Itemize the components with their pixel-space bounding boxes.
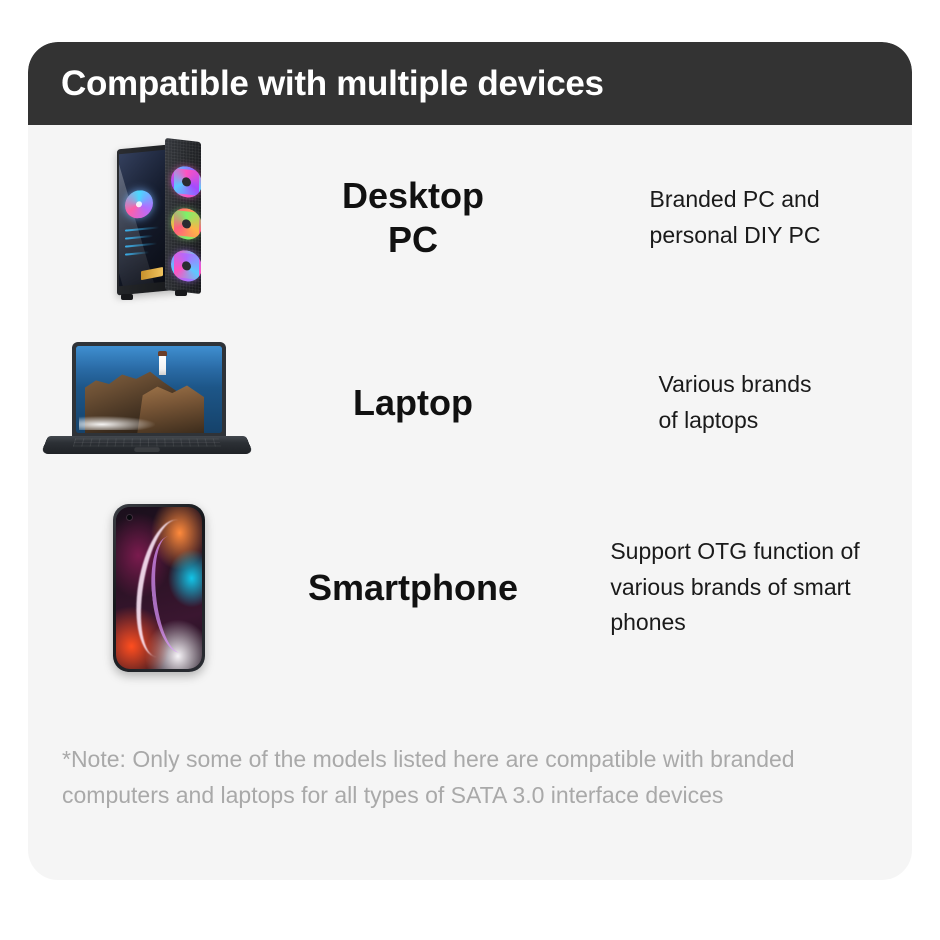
desktop-pc-tower-icon (99, 138, 219, 298)
laptop-icon (42, 340, 252, 465)
smartphone-front-camera-icon (127, 515, 132, 520)
device-label-text: Laptop (353, 381, 473, 425)
device-description-smartphone: Support OTG function of various brands o… (558, 495, 912, 680)
device-label-text: Desktop PC (342, 174, 484, 262)
desktop-pc-image (28, 125, 278, 310)
smartphone-image (28, 495, 278, 680)
device-row: Desktop PC Branded PC and personal DIY P… (28, 125, 912, 310)
laptop-lid (72, 342, 226, 438)
card-header: Compatible with multiple devices (28, 42, 912, 125)
laptop-keyboard-base (41, 436, 254, 454)
device-label-laptop: Laptop (268, 310, 558, 495)
laptop-wallpaper-sea-foam (79, 416, 155, 430)
pc-rgb-cpu-fan-icon (125, 188, 153, 219)
smartphone-body (113, 504, 205, 672)
device-description-text: Branded PC and personal DIY PC (650, 182, 821, 253)
smartphone-icon (113, 504, 205, 672)
laptop-keyboard (73, 439, 222, 447)
page-title: Compatible with multiple devices (61, 64, 604, 104)
device-label-text: Smartphone (308, 566, 518, 610)
compatibility-card: Compatible with multiple devices (28, 42, 912, 880)
infographic-page: Compatible with multiple devices (0, 0, 940, 940)
laptop-wallpaper-lighthouse (159, 355, 166, 375)
laptop-trackpad (134, 447, 159, 451)
device-rows: Desktop PC Branded PC and personal DIY P… (28, 125, 912, 680)
pc-front-panel (165, 137, 201, 293)
device-row: Laptop Various brands of laptops (28, 310, 912, 495)
device-description-text: Support OTG function of various brands o… (610, 534, 859, 641)
device-label-smartphone: Smartphone (268, 495, 558, 680)
laptop-screen (76, 346, 222, 433)
laptop-image (28, 310, 278, 495)
device-row: Smartphone Support OTG function of vario… (28, 495, 912, 680)
device-description-laptop: Various brands of laptops (558, 310, 912, 495)
device-description-text: Various brands of laptops (659, 367, 812, 438)
smartphone-screen (116, 507, 202, 669)
device-description-desktop-pc: Branded PC and personal DIY PC (558, 125, 912, 310)
compatibility-note: *Note: Only some of the models listed he… (62, 742, 862, 813)
device-label-desktop-pc: Desktop PC (268, 125, 558, 310)
pc-foot (175, 290, 187, 296)
pc-foot (121, 294, 133, 300)
pc-glass-panel (119, 149, 165, 285)
